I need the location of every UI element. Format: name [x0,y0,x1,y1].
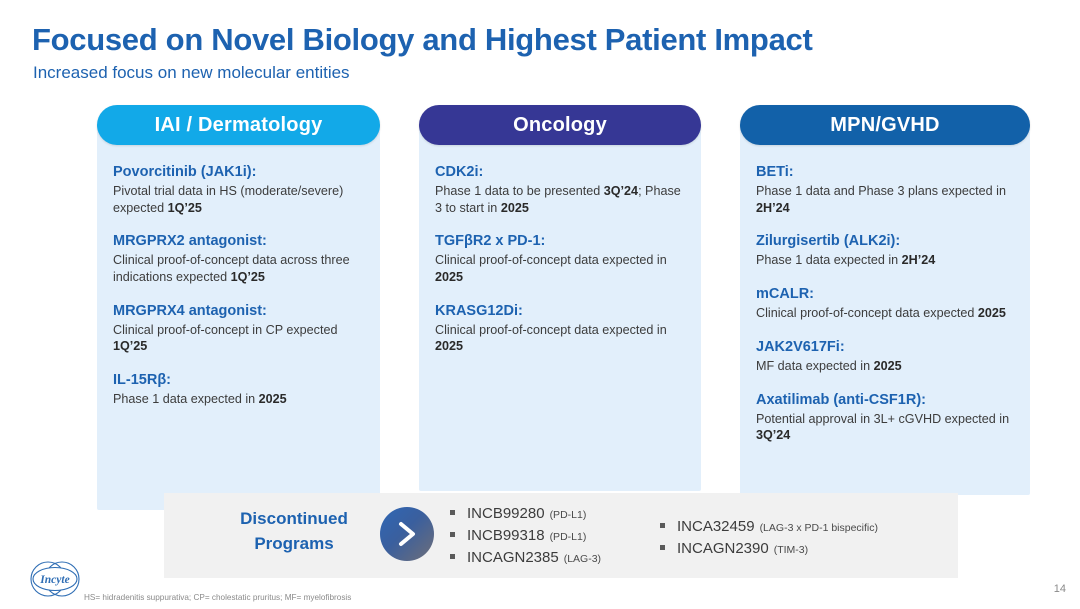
discontinued-title-line2: Programs [210,532,378,557]
pipeline-entry-name: MRGPRX2 antagonist: [113,232,364,250]
pipeline-entry: CDK2i:Phase 1 data to be presented 3Q’24… [435,163,685,216]
pipeline-entry-name: BETi: [756,163,1014,181]
pipeline-entry-name: JAK2V617Fi: [756,338,1014,356]
pipeline-entry-name: MRGPRX4 antagonist: [113,302,364,320]
discontinued-program-target: (LAG-3) [564,553,601,565]
bullet-icon [660,523,665,528]
pipeline-entry-description: Clinical proof-of-concept in CP expected… [113,322,364,355]
pipeline-entry-name: CDK2i: [435,163,685,181]
pipeline-entry: mCALR:Clinical proof-of-concept data exp… [756,285,1014,322]
discontinued-program-target: (PD-L1) [550,509,587,521]
bullet-icon [450,532,455,537]
discontinued-program-code: INCB99280 [467,505,545,522]
discontinued-program-target: (PD-L1) [550,531,587,543]
page-subtitle: Increased focus on new molecular entitie… [33,63,350,83]
column-body-mpn-gvhd: BETi:Phase 1 data and Phase 3 plans expe… [740,123,1030,456]
pipeline-entry-name: Axatilimab (anti-CSF1R): [756,391,1014,409]
pipeline-entry-description: Clinical proof-of-concept data expected … [435,252,685,285]
discontinued-list-item: INCAGN2390(TIM-3) [660,540,878,557]
discontinued-program-code: INCA32459 [677,518,755,535]
pipeline-entry: KRASG12Di:Clinical proof-of-concept data… [435,302,685,355]
bullet-icon [450,554,455,559]
bullet-icon [450,510,455,515]
discontinued-programs-panel: Discontinued Programs INCB99280(PD-L1)IN… [164,493,958,578]
page-number: 14 [1054,583,1066,595]
discontinued-program-code: INCB99318 [467,527,545,544]
pipeline-entry-name: IL-15Rβ: [113,371,364,389]
incyte-logo-text: Incyte [39,574,69,586]
pipeline-entry: MRGPRX2 antagonist:Clinical proof-of-con… [113,232,364,285]
pipeline-entry-name: mCALR: [756,285,1014,303]
pipeline-entry: JAK2V617Fi:MF data expected in 2025 [756,338,1014,375]
discontinued-title-line1: Discontinued [210,507,378,532]
pipeline-entry: Axatilimab (anti-CSF1R):Potential approv… [756,391,1014,444]
column-body-oncology: CDK2i:Phase 1 data to be presented 3Q’24… [419,123,701,367]
discontinued-list-item: INCB99280(PD-L1) [450,505,601,522]
discontinued-title: Discontinued Programs [210,507,378,556]
discontinued-program-target: (LAG-3 x PD-1 bispecific) [760,522,878,534]
footnote: HS= hidradenitis suppurativa; CP= choles… [84,593,351,602]
discontinued-list-item: INCA32459(LAG-3 x PD-1 bispecific) [660,518,878,535]
pipeline-entry-description: Clinical proof-of-concept data across th… [113,252,364,285]
pipeline-entry-description: Phase 1 data expected in 2025 [113,391,364,408]
column-header-pill-iai-dermatology[interactable]: IAI / Dermatology [97,105,380,145]
pipeline-entry-name: KRASG12Di: [435,302,685,320]
page-title: Focused on Novel Biology and Highest Pat… [32,22,812,58]
discontinued-list-item: INCAGN2385(LAG-3) [450,549,601,566]
chevron-right-icon [380,507,434,561]
discontinued-program-code: INCAGN2390 [677,540,769,557]
discontinued-list-right: INCA32459(LAG-3 x PD-1 bispecific)INCAGN… [660,518,878,562]
pipeline-entry-description: Potential approval in 3L+ cGVHD expected… [756,411,1014,444]
pipeline-entry: MRGPRX4 antagonist:Clinical proof-of-con… [113,302,364,355]
pipeline-entry-description: Clinical proof-of-concept data expected … [435,322,685,355]
column-header-pill-mpn-gvhd[interactable]: MPN/GVHD [740,105,1030,145]
pipeline-entry-name: Povorcitinib (JAK1i): [113,163,364,181]
pipeline-entry-description: Phase 1 data to be presented 3Q’24; Phas… [435,183,685,216]
pipeline-entry-description: Phase 1 data and Phase 3 plans expected … [756,183,1014,216]
pipeline-entry: IL-15Rβ:Phase 1 data expected in 2025 [113,371,364,408]
column-body-iai-dermatology: Povorcitinib (JAK1i):Pivotal trial data … [97,123,380,420]
incyte-logo: Incyte [26,556,84,602]
column-header-pill-oncology[interactable]: Oncology [419,105,701,145]
discontinued-program-target: (TIM-3) [774,544,808,556]
pipeline-entry-name: TGFβR2 x PD-1: [435,232,685,250]
discontinued-list-left: INCB99280(PD-L1)INCB99318(PD-L1)INCAGN23… [450,505,601,571]
pipeline-entry-description: Pivotal trial data in HS (moderate/sever… [113,183,364,216]
pipeline-entry: Povorcitinib (JAK1i):Pivotal trial data … [113,163,364,216]
bullet-icon [660,545,665,550]
pipeline-entry-name: Zilurgisertib (ALK2i): [756,232,1014,250]
pipeline-entry-description: Clinical proof-of-concept data expected … [756,305,1014,322]
pipeline-entry: BETi:Phase 1 data and Phase 3 plans expe… [756,163,1014,216]
discontinued-list-item: INCB99318(PD-L1) [450,527,601,544]
pipeline-entry-description: Phase 1 data expected in 2H’24 [756,252,1014,269]
discontinued-program-code: INCAGN2385 [467,549,559,566]
pipeline-entry: Zilurgisertib (ALK2i):Phase 1 data expec… [756,232,1014,269]
pipeline-entry: TGFβR2 x PD-1:Clinical proof-of-concept … [435,232,685,285]
pipeline-entry-description: MF data expected in 2025 [756,358,1014,375]
